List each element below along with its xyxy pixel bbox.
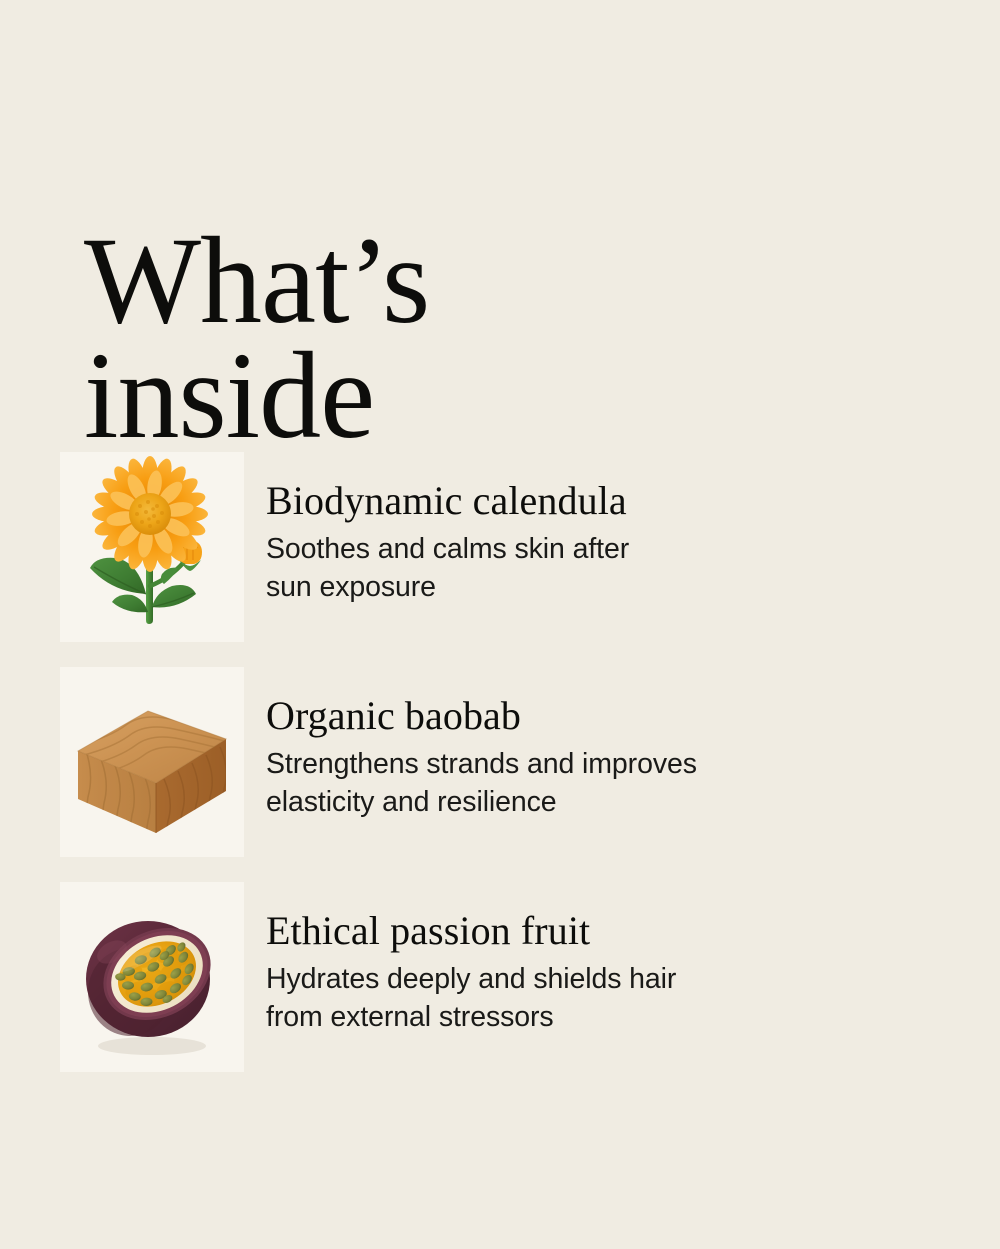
ingredient-title: Ethical passion fruit [266, 908, 1000, 954]
ingredient-title: Organic baobab [266, 693, 1000, 739]
ingredient-description-line-2: from external stressors [266, 998, 806, 1036]
page-title: What’s inside [84, 223, 684, 453]
wood-block-icon [60, 667, 244, 857]
ingredient-description: Strengthens strands and improves elastic… [266, 745, 806, 821]
whats-inside-panel: What’s inside [0, 0, 1000, 1249]
ingredient-text: Organic baobab Strengthens strands and i… [266, 667, 1000, 821]
ingredient-list: Biodynamic calendula Soothes and calms s… [0, 452, 1000, 1097]
ingredient-description: Hydrates deeply and shields hair from ex… [266, 960, 806, 1036]
ingredient-description-line-1: Soothes and calms skin after [266, 530, 806, 568]
ingredient-description-line-2: sun exposure [266, 568, 806, 606]
ingredient-description-line-1: Hydrates deeply and shields hair [266, 960, 806, 998]
page-title-line-1: What’s [84, 223, 684, 338]
ingredient-text: Ethical passion fruit Hydrates deeply an… [266, 882, 1000, 1036]
passion-fruit-half-icon [60, 882, 244, 1072]
ingredient-title: Biodynamic calendula [266, 478, 1000, 524]
ingredient-text: Biodynamic calendula Soothes and calms s… [266, 452, 1000, 606]
ingredient-description-line-1: Strengthens strands and improves [266, 745, 806, 783]
ingredient-description: Soothes and calms skin after sun exposur… [266, 530, 806, 606]
list-item: Biodynamic calendula Soothes and calms s… [0, 452, 1000, 667]
list-item: Ethical passion fruit Hydrates deeply an… [0, 882, 1000, 1097]
page-title-line-2: inside [84, 338, 684, 453]
list-item: Organic baobab Strengthens strands and i… [0, 667, 1000, 882]
calendula-flower-icon [60, 452, 244, 642]
ingredient-description-line-2: elasticity and resilience [266, 783, 806, 821]
